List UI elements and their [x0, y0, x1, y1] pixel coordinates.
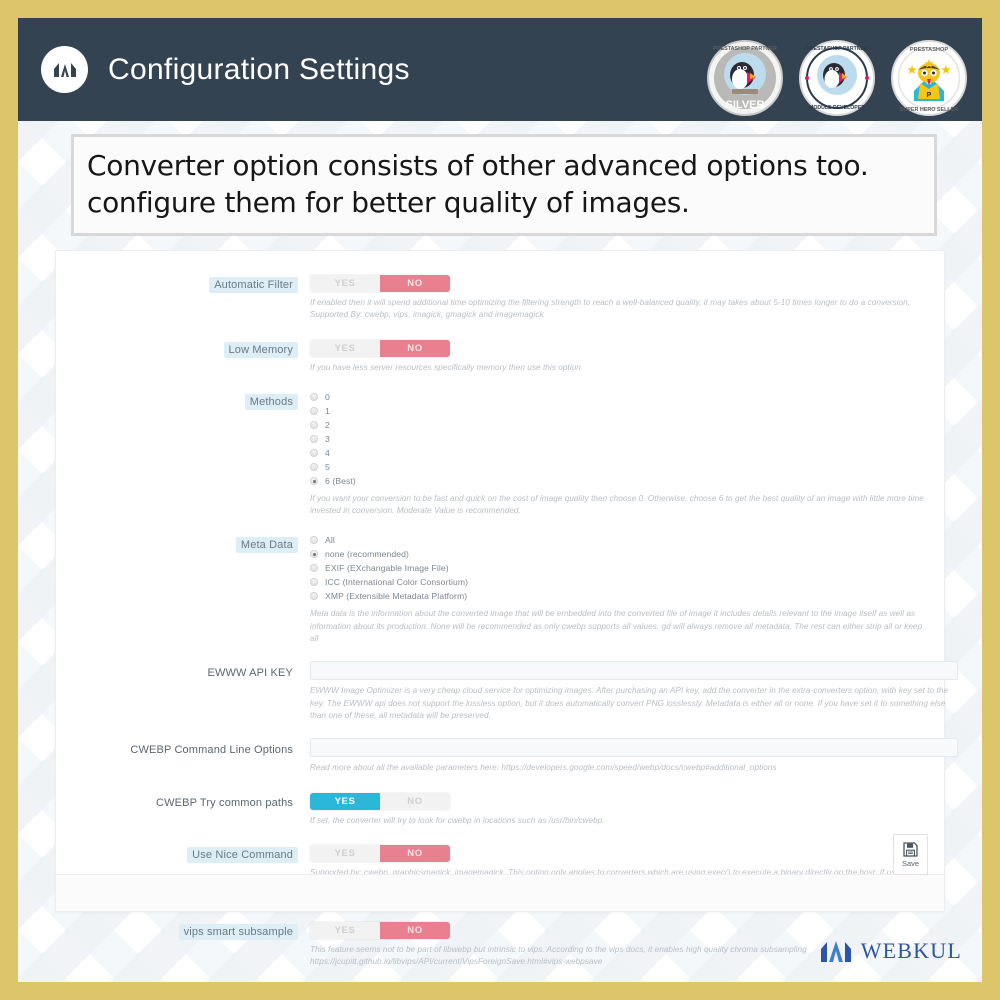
radio-option-label: XMP (Extensible Metadata Platform) — [325, 591, 467, 601]
label-automatic-filter: Automatic Filter — [56, 273, 310, 293]
form-row-vips-smart-subsample: vips smart subsampleYESNOThis feature se… — [56, 920, 944, 969]
toggle-use-nice-command[interactable]: YESNO — [310, 845, 450, 862]
svg-text:P: P — [927, 92, 932, 99]
webkul-brand-text: WEBKUL — [861, 938, 962, 964]
partner-badges: SILVER PRESTASHOP PARTNER — [706, 39, 968, 117]
webkul-logo-icon — [819, 938, 853, 964]
settings-form: Automatic FilterYESNOIf enabled then it … — [56, 273, 944, 898]
form-row-methods: Methods0123456 (Best)If you want your co… — [56, 390, 944, 518]
radio-option-label: 6 (Best) — [325, 476, 356, 486]
label-text-meta-data: Meta Data — [236, 537, 298, 553]
toggle-yes-low-memory[interactable]: YES — [310, 340, 380, 357]
floppy-disk-icon — [902, 841, 919, 858]
radio-button-icon[interactable] — [310, 578, 318, 586]
toggle-yes-cwebp-try-common-paths[interactable]: YES — [310, 793, 380, 810]
field-methods: 0123456 (Best)If you want your conversio… — [310, 390, 944, 518]
radio-button-icon[interactable] — [310, 592, 318, 600]
radio-button-icon[interactable] — [310, 435, 318, 443]
svg-text:SILVER: SILVER — [726, 99, 765, 111]
radio-button-icon[interactable] — [310, 564, 318, 572]
label-low-memory: Low Memory — [56, 338, 310, 358]
radio-button-icon[interactable] — [310, 536, 318, 544]
label-meta-data: Meta Data — [56, 533, 310, 553]
label-text-low-memory: Low Memory — [224, 342, 298, 358]
svg-text:PRESTASHOP: PRESTASHOP — [910, 47, 948, 53]
radio-option-meta-data-1[interactable]: none (recommended) — [310, 547, 926, 561]
app-header: Configuration Settings — [18, 18, 982, 121]
radio-option-methods-0[interactable]: 0 — [310, 390, 926, 404]
radio-button-icon[interactable] — [310, 421, 318, 429]
radio-option-methods-5[interactable]: 5 — [310, 460, 926, 474]
field-meta-data: Allnone (recommended)EXIF (EXchangable I… — [310, 533, 944, 645]
form-row-automatic-filter: Automatic FilterYESNOIf enabled then it … — [56, 273, 944, 322]
field-ewww-api-key: EWWW Image Optimizer is a very cheap clo… — [310, 661, 976, 722]
radio-option-label: 3 — [325, 434, 330, 444]
toggle-automatic-filter[interactable]: YESNO — [310, 275, 450, 292]
radio-option-label: ICC (International Color Consortium) — [325, 577, 468, 587]
help-text-methods: If you want your conversion to be fast a… — [310, 493, 926, 518]
svg-text:SUPER HERO SELLER: SUPER HERO SELLER — [900, 107, 959, 113]
save-button-label: Save — [902, 859, 919, 868]
radio-option-label: 4 — [325, 448, 330, 458]
svg-text:PRESTASHOP PARTNER: PRESTASHOP PARTNER — [806, 46, 868, 52]
toggle-yes-automatic-filter[interactable]: YES — [310, 275, 380, 292]
radio-option-methods-6[interactable]: 6 (Best) — [310, 474, 926, 488]
label-text-vips-smart-subsample: vips smart subsample — [179, 924, 298, 940]
toggle-no-automatic-filter[interactable]: NO — [380, 275, 450, 292]
webkul-brand: WEBKUL — [819, 938, 962, 964]
field-cwebp-command-line-options: Read more about all the available parame… — [310, 738, 976, 774]
radio-button-icon[interactable] — [310, 407, 318, 415]
radio-option-label: All — [325, 535, 335, 545]
settings-panel: Automatic FilterYESNOIf enabled then it … — [55, 250, 945, 912]
radio-group-meta-data: Allnone (recommended)EXIF (EXchangable I… — [310, 533, 926, 603]
radio-button-icon[interactable] — [310, 477, 318, 485]
field-low-memory: YESNOIf you have less server resources s… — [310, 338, 944, 374]
input-ewww-api-key[interactable] — [310, 661, 958, 680]
radio-option-meta-data-4[interactable]: XMP (Extensible Metadata Platform) — [310, 589, 926, 603]
panel-footer: Save — [56, 874, 944, 911]
label-vips-smart-subsample: vips smart subsample — [56, 920, 310, 940]
label-text-automatic-filter: Automatic Filter — [209, 277, 298, 293]
field-automatic-filter: YESNOIf enabled then it will spend addit… — [310, 273, 944, 322]
toggle-low-memory[interactable]: YESNO — [310, 340, 450, 357]
page-title: Configuration Settings — [108, 53, 410, 87]
label-cwebp-command-line-options: CWEBP Command Line Options — [56, 738, 310, 758]
radio-button-icon[interactable] — [310, 393, 318, 401]
radio-option-label: EXIF (EXchangable Image File) — [325, 563, 449, 573]
radio-option-methods-2[interactable]: 2 — [310, 418, 926, 432]
label-text-cwebp-command-line-options: CWEBP Command Line Options — [125, 742, 298, 758]
help-text-ewww-api-key: EWWW Image Optimizer is a very cheap clo… — [310, 685, 958, 722]
radio-option-label: 2 — [325, 420, 330, 430]
label-cwebp-try-common-paths: CWEBP Try common paths — [56, 791, 310, 811]
form-row-cwebp-try-common-paths: CWEBP Try common pathsYESNOIf set, the c… — [56, 791, 944, 827]
radio-option-meta-data-2[interactable]: EXIF (EXchangable Image File) — [310, 561, 926, 575]
save-button[interactable]: Save — [893, 834, 928, 875]
webkul-mark-icon — [41, 46, 88, 93]
radio-option-label: 5 — [325, 462, 330, 472]
toggle-no-vips-smart-subsample[interactable]: NO — [380, 922, 450, 939]
field-cwebp-try-common-paths: YESNOIf set, the converter will try to l… — [310, 791, 944, 827]
toggle-no-low-memory[interactable]: NO — [380, 340, 450, 357]
form-row-ewww-api-key: EWWW API KEYEWWW Image Optimizer is a ve… — [56, 661, 944, 722]
radio-option-methods-3[interactable]: 3 — [310, 432, 926, 446]
toggle-no-cwebp-try-common-paths[interactable]: NO — [380, 793, 450, 810]
help-text-meta-data: Meta data is the information about the c… — [310, 608, 926, 645]
toggle-cwebp-try-common-paths[interactable]: YESNO — [310, 793, 450, 810]
radio-option-methods-4[interactable]: 4 — [310, 446, 926, 460]
page-inner: Configuration Settings — [18, 18, 982, 982]
radio-option-label: 0 — [325, 392, 330, 402]
radio-button-icon[interactable] — [310, 550, 318, 558]
label-ewww-api-key: EWWW API KEY — [56, 661, 310, 681]
radio-option-meta-data-3[interactable]: ICC (International Color Consortium) — [310, 575, 926, 589]
radio-group-methods: 0123456 (Best) — [310, 390, 926, 488]
radio-option-label: none (recommended) — [325, 549, 409, 559]
radio-button-icon[interactable] — [310, 449, 318, 457]
prestashop-super-hero-seller-badge: P PRESTASHOP SUPER HERO SELLER — [890, 39, 968, 117]
toggle-yes-use-nice-command[interactable]: YES — [310, 845, 380, 862]
toggle-vips-smart-subsample[interactable]: YESNO — [310, 922, 450, 939]
label-methods: Methods — [56, 390, 310, 410]
label-text-cwebp-try-common-paths: CWEBP Try common paths — [151, 795, 298, 811]
label-text-ewww-api-key: EWWW API KEY — [202, 665, 298, 681]
radio-option-label: 1 — [325, 406, 330, 416]
help-text-cwebp-try-common-paths: If set, the converter will try to look f… — [310, 815, 926, 827]
svg-text:PRESTASHOP PARTNER: PRESTASHOP PARTNER — [713, 46, 777, 52]
form-row-meta-data: Meta DataAllnone (recommended)EXIF (EXch… — [56, 533, 944, 645]
radio-option-meta-data-0[interactable]: All — [310, 533, 926, 547]
svg-text:MODULE DEVELOPER: MODULE DEVELOPER — [809, 105, 865, 111]
radio-button-icon[interactable] — [310, 463, 318, 471]
prestashop-partner-module-developer-badge: PRESTASHOP PARTNER MODULE DEVELOPER — [798, 39, 876, 117]
toggle-yes-vips-smart-subsample[interactable]: YES — [310, 922, 380, 939]
help-text-cwebp-command-line-options: Read more about all the available parame… — [310, 762, 958, 774]
caption-text: Converter option consists of other advan… — [87, 147, 921, 221]
label-use-nice-command: Use Nice Command — [56, 843, 310, 863]
help-text-automatic-filter: If enabled then it will spend additional… — [310, 297, 926, 322]
label-text-methods: Methods — [245, 394, 298, 410]
radio-option-methods-1[interactable]: 1 — [310, 404, 926, 418]
toggle-no-use-nice-command[interactable]: NO — [380, 845, 450, 862]
help-text-low-memory: If you have less server resources specif… — [310, 362, 926, 374]
label-text-use-nice-command: Use Nice Command — [187, 847, 298, 863]
input-cwebp-command-line-options[interactable] — [310, 738, 958, 757]
prestashop-partner-silver-badge: SILVER PRESTASHOP PARTNER — [706, 39, 784, 117]
form-row-cwebp-command-line-options: CWEBP Command Line OptionsRead more abou… — [56, 738, 944, 774]
form-row-low-memory: Low MemoryYESNOIf you have less server r… — [56, 338, 944, 374]
caption-box: Converter option consists of other advan… — [71, 134, 937, 236]
